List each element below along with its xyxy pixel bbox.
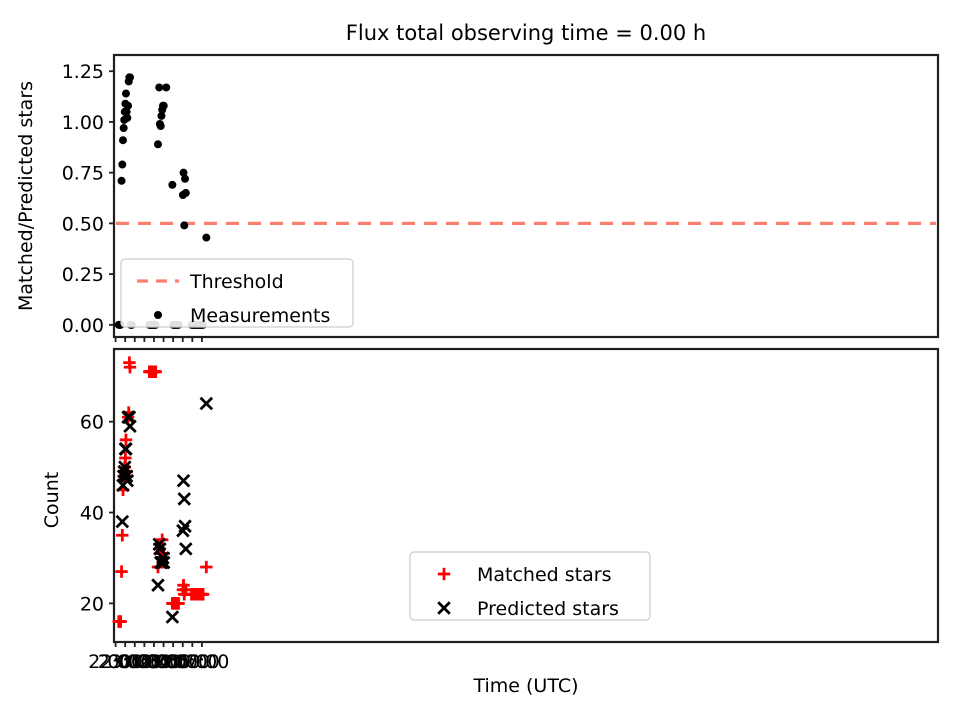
data-point-marker xyxy=(123,114,131,122)
y-tick-label: 1.00 xyxy=(62,112,104,134)
y-tick-label: 0.25 xyxy=(62,264,104,286)
data-point-marker xyxy=(122,90,130,98)
data-point-marker xyxy=(162,83,170,91)
y-tick-label: 40 xyxy=(80,503,104,525)
data-point-marker xyxy=(202,234,210,242)
matplotlib-figure: Flux total observing time = 0.00 h 0.000… xyxy=(0,0,960,720)
y-tick-label: 0.00 xyxy=(62,315,104,337)
top-legend-item-label: Measurements xyxy=(190,305,330,327)
figure-title: Flux total observing time = 0.00 h xyxy=(346,21,706,45)
measurements-swatch-icon xyxy=(154,311,162,319)
data-point-marker xyxy=(181,175,189,183)
data-point-marker xyxy=(154,140,162,148)
bottom-legend[interactable]: Matched starsPredicted stars xyxy=(410,552,650,620)
data-point-marker xyxy=(180,221,188,229)
x-axis-label: Time (UTC) xyxy=(472,675,578,697)
data-point-marker xyxy=(168,181,176,189)
top-legend[interactable]: ThresholdMeasurements xyxy=(121,259,353,327)
bottom-legend-item-label: Matched stars xyxy=(477,564,611,586)
figure-canvas: Flux total observing time = 0.00 h 0.000… xyxy=(0,0,960,720)
bottom-y-axis-label: Count xyxy=(41,472,63,528)
top-y-axis-label: Matched/Predicted stars xyxy=(15,81,37,311)
data-point-marker xyxy=(155,83,163,91)
y-tick-label: 20 xyxy=(80,593,104,615)
data-point-marker xyxy=(124,102,132,110)
data-point-marker xyxy=(118,161,126,169)
data-point-marker xyxy=(157,122,165,130)
data-point-marker xyxy=(118,177,126,185)
y-tick-label: 60 xyxy=(80,412,104,434)
data-point-marker xyxy=(160,102,168,110)
x-tick-label: 07:00 xyxy=(175,651,230,673)
data-point-marker xyxy=(126,73,134,81)
top-legend-item-label: Threshold xyxy=(189,271,284,293)
data-point-marker xyxy=(120,124,128,132)
bottom-legend-item-label: Predicted stars xyxy=(477,598,619,620)
data-point-marker xyxy=(119,136,127,144)
y-tick-label: 0.50 xyxy=(62,213,104,235)
data-point-marker xyxy=(182,189,190,197)
y-tick-label: 1.25 xyxy=(62,61,104,83)
y-tick-label: 0.75 xyxy=(62,163,104,185)
